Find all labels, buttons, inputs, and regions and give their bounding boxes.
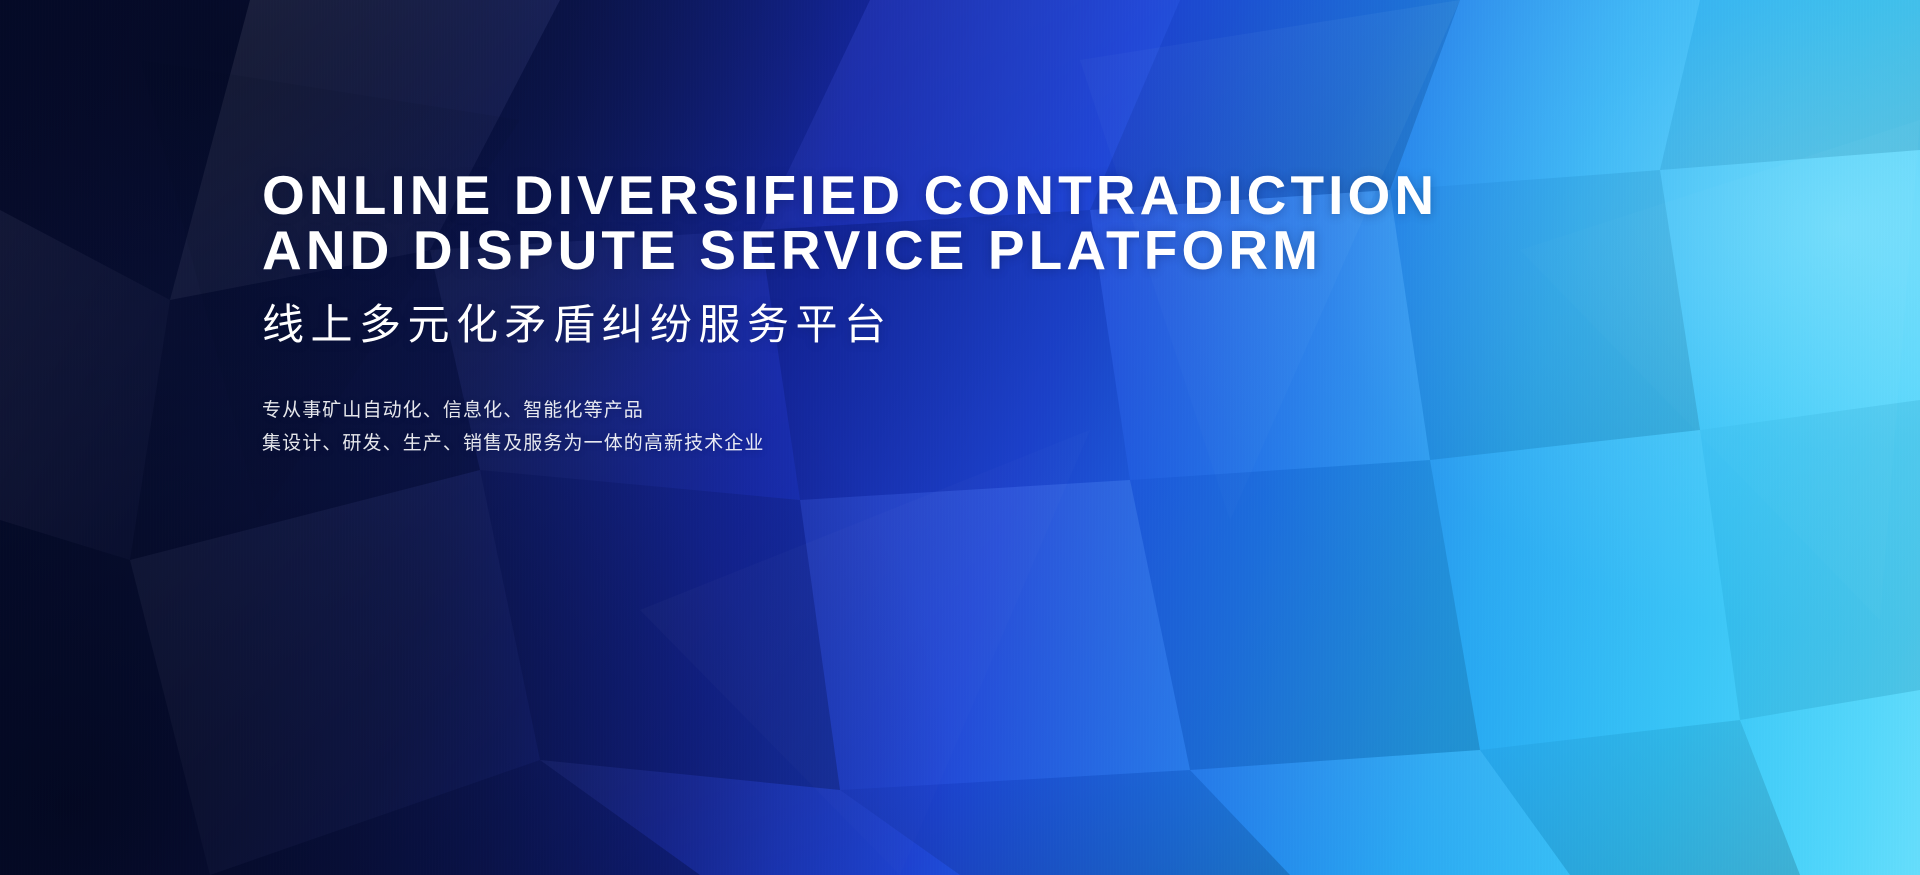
headline-english: ONLINE DIVERSIFIED CONTRADICTION AND DIS… — [262, 168, 1562, 278]
hero-content: ONLINE DIVERSIFIED CONTRADICTION AND DIS… — [262, 168, 1562, 461]
body-copy-line-2: 集设计、研发、生产、销售及服务为一体的高新技术企业 — [262, 428, 1562, 461]
headline-english-line-2: AND DISPUTE SERVICE PLATFORM — [262, 223, 1562, 278]
hero-banner: ONLINE DIVERSIFIED CONTRADICTION AND DIS… — [0, 0, 1920, 875]
headline-chinese: 线上多元化矛盾纠纷服务平台 — [262, 301, 1562, 349]
headline-english-line-1: ONLINE DIVERSIFIED CONTRADICTION — [262, 164, 1438, 226]
body-copy-line-1: 专从事矿山自动化、信息化、智能化等产品 — [262, 395, 1562, 428]
body-copy-list: 专从事矿山自动化、信息化、智能化等产品 集设计、研发、生产、销售及服务为一体的高… — [262, 395, 1562, 460]
